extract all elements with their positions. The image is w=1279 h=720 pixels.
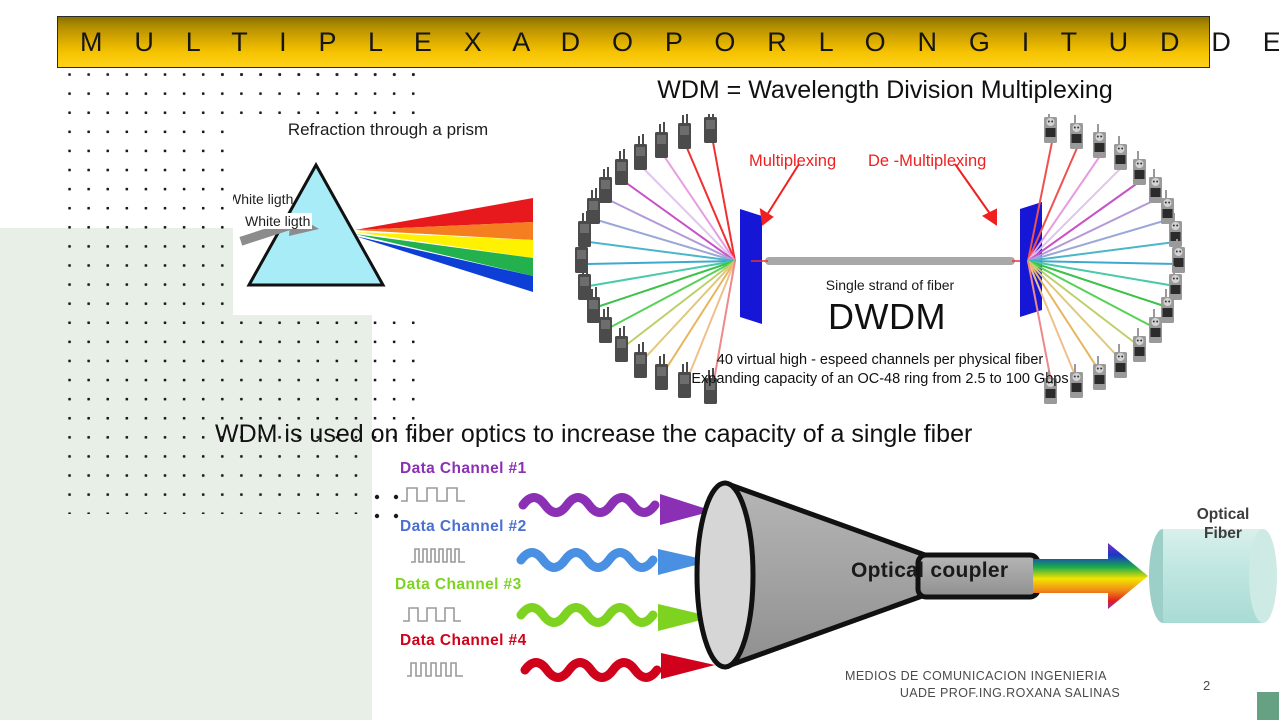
data-channel-2-label: Data Channel #2 (400, 518, 527, 536)
mid-caption: WDM is used on fiber optics to increase … (215, 420, 972, 449)
optical-coupler-figure: Data Channel #1 Data Channel #2 Data Cha… (373, 455, 1279, 692)
footer-line-2: UADE PROF.ING.ROXANA SALINAS (845, 685, 1175, 702)
white-light-label: White ligth (233, 191, 293, 207)
data-channel-3-label: Data Channel #3 (395, 576, 522, 594)
single-strand-label: Single strand of fiber (826, 277, 955, 293)
prism-figure-heading: Refraction through a prism (233, 120, 543, 140)
demultiplexing-label: De -Multiplexing (868, 152, 986, 171)
slide-canvas: M U L T I P L E X A D O P O R L O N G I … (0, 0, 1279, 720)
dwdm-caption-line2: Expanding capacity of an OC-48 ring from… (595, 370, 1165, 389)
optical-coupler-svg (373, 455, 1279, 692)
title-banner: M U L T I P L E X A D O P O R L O N G I … (57, 16, 1210, 68)
prism-input-label: White ligth (243, 213, 312, 229)
prism-diagram-svg: White ligth (233, 150, 543, 315)
optical-fiber-label-line1: Optical (1168, 505, 1278, 524)
data-channel-4-label: Data Channel #4 (400, 632, 527, 650)
slide-number: 2 (1203, 678, 1210, 693)
dwdm-caption-line1: 40 virtual high - espeed channels per ph… (595, 351, 1165, 370)
wdm-figure-heading: WDM = Wavelength Division Multiplexing (635, 76, 1135, 105)
optical-fiber-label-line2: Fiber (1168, 524, 1278, 543)
wdm-figure: WDM = Wavelength Division Multiplexing (565, 74, 1195, 394)
slide-footer: MEDIOS DE COMUNICACION INGENIERIA UADE P… (845, 668, 1175, 702)
data-channel-1-label: Data Channel #1 (400, 460, 527, 478)
multiplexing-label: Multiplexing (749, 152, 836, 171)
optical-fiber-label: Optical Fiber (1168, 505, 1278, 543)
dwdm-caption: 40 virtual high - espeed channels per ph… (595, 351, 1165, 389)
dwdm-acronym: DWDM (797, 296, 977, 338)
footer-line-1: MEDIOS DE COMUNICACION INGENIERIA (845, 668, 1175, 685)
page-title: M U L T I P L E X A D O P O R L O N G I … (80, 27, 1279, 58)
optical-coupler-label: Optical coupler (851, 559, 1008, 583)
